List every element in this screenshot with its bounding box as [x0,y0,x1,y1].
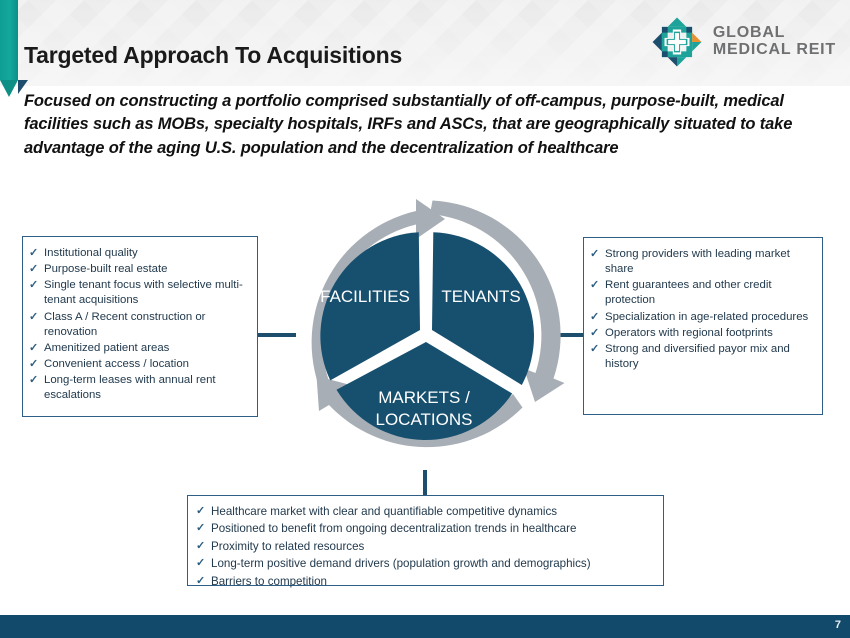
list-item-label: Long-term positive demand drivers (popul… [211,556,655,571]
list-item: ✓Strong providers with leading market sh… [590,247,814,277]
list-item-label: Healthcare market with clear and quantif… [211,504,655,519]
brand-logo-line2: MEDICAL REIT [713,42,836,59]
teal-accent-bar [0,0,18,80]
list-item-label: Single tenant focus with selective multi… [44,278,249,308]
checkmark-icon: ✓ [196,539,211,554]
checkmark-icon: ✓ [590,310,605,325]
checkmark-icon: ✓ [196,521,211,536]
list-item-label: Positioned to benefit from ongoing decen… [211,521,655,536]
slide-footer: 7 [0,615,850,638]
markets-criteria-list: ✓Healthcare market with clear and quanti… [196,504,655,589]
sector-label-tenants: TENANTS [441,287,520,306]
list-item-label: Barriers to competition [211,574,655,589]
checkmark-icon: ✓ [196,556,211,571]
list-item: ✓Proximity to related resources [196,539,655,554]
tenants-criteria-box: ✓Strong providers with leading market sh… [583,237,823,415]
sector-label-facilities: FACILITIES [320,287,410,306]
list-item: ✓Specialization in age-related procedure… [590,310,814,325]
list-item-label: Rent guarantees and other credit protect… [605,278,814,308]
sector-label-locations: LOCATIONS [376,410,473,429]
list-item: ✓Long-term positive demand drivers (popu… [196,556,655,571]
checkmark-icon: ✓ [196,574,211,589]
checkmark-icon: ✓ [590,326,605,341]
tenants-criteria-list: ✓Strong providers with leading market sh… [590,247,814,372]
list-item: ✓Barriers to competition [196,574,655,589]
list-item-label: Purpose-built real estate [44,262,249,277]
global-medical-reit-cross-icon [651,16,703,68]
list-item: ✓Convenient access / location [29,357,249,372]
list-item-label: Operators with regional footprints [605,326,814,341]
brand-logo-text: GLOBAL MEDICAL REIT [713,25,836,58]
list-item: ✓Amenitized patient areas [29,341,249,356]
markets-locations-criteria-box: ✓Healthcare market with clear and quanti… [187,495,664,586]
list-item-label: Long-term leases with annual rent escala… [44,373,249,403]
list-item-label: Strong and diversified payor mix and his… [605,342,814,372]
page-title: Targeted Approach To Acquisitions [24,42,402,69]
list-item: ✓Single tenant focus with selective mult… [29,278,249,308]
checkmark-icon: ✓ [29,357,44,372]
checkmark-icon: ✓ [29,373,44,388]
checkmark-icon: ✓ [590,247,605,262]
list-item-label: Amenitized patient areas [44,341,249,356]
facilities-criteria-list: ✓Institutional quality✓Purpose-built rea… [29,246,249,404]
checkmark-icon: ✓ [29,246,44,261]
list-item-label: Specialization in age-related procedures [605,310,814,325]
slide-subtitle: Focused on constructing a portfolio comp… [24,90,824,160]
list-item-label: Proximity to related resources [211,539,655,554]
list-item: ✓Institutional quality [29,246,249,261]
list-item: ✓Strong and diversified payor mix and hi… [590,342,814,372]
list-item: ✓Healthcare market with clear and quanti… [196,504,655,519]
list-item: ✓Long-term leases with annual rent escal… [29,373,249,403]
brand-logo: GLOBAL MEDICAL REIT [651,16,836,68]
facilities-criteria-box: ✓Institutional quality✓Purpose-built rea… [22,236,258,417]
three-part-cycle-diagram: FACILITIES TENANTS MARKETS / LOCATIONS [272,190,580,482]
list-item: ✓Positioned to benefit from ongoing dece… [196,521,655,536]
list-item-label: Strong providers with leading market sha… [605,247,814,277]
checkmark-icon: ✓ [29,341,44,356]
checkmark-icon: ✓ [29,262,44,277]
list-item-label: Institutional quality [44,246,249,261]
checkmark-icon: ✓ [196,504,211,519]
sector-label-markets: MARKETS / [378,388,470,407]
list-item: ✓Operators with regional footprints [590,326,814,341]
list-item-label: Convenient access / location [44,357,249,372]
checkmark-icon: ✓ [29,278,44,293]
teal-accent-triangle-icon [0,80,18,97]
brand-logo-line1: GLOBAL [713,25,836,42]
page-number: 7 [835,619,841,631]
checkmark-icon: ✓ [590,342,605,357]
checkmark-icon: ✓ [29,310,44,325]
list-item: ✓Class A / Recent construction or renova… [29,310,249,340]
checkmark-icon: ✓ [590,278,605,293]
list-item: ✓Rent guarantees and other credit protec… [590,278,814,308]
list-item: ✓Purpose-built real estate [29,262,249,277]
list-item-label: Class A / Recent construction or renovat… [44,310,249,340]
